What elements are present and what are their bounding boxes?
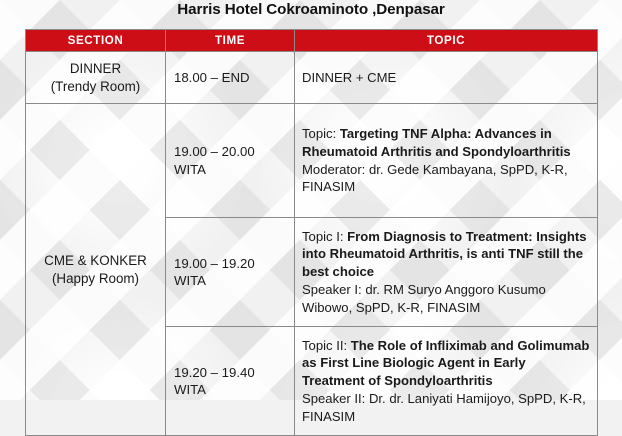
table-header-row: SECTION TIME TOPIC: [26, 30, 598, 52]
cell-time-session-3: 19.20 – 19.40 WITA: [166, 327, 295, 436]
column-header-section: SECTION: [26, 30, 166, 52]
topic-label: Topic:: [302, 126, 340, 141]
cell-topic-session-1: Topic: Targeting TNF Alpha: Advances in …: [295, 104, 598, 218]
time-range: 19.00 – 20.00: [174, 143, 294, 160]
schedule-table: SECTION TIME TOPIC DINNER (Trendy Room) …: [25, 29, 598, 436]
cell-section-cme-konker: CME & KONKER (Happy Room): [26, 104, 166, 436]
cell-topic-dinner: DINNER + CME: [295, 52, 598, 104]
table-row: DINNER (Trendy Room) 18.00 – END DINNER …: [26, 52, 598, 104]
cell-time-session-2: 19.00 – 19.20 WITA: [166, 218, 295, 327]
section-room: (Trendy Room): [30, 78, 161, 96]
time-zone: WITA: [174, 272, 294, 289]
cell-topic-session-2: Topic I: From Diagnosis to Treatment: In…: [295, 218, 598, 327]
cell-time-session-1: 19.00 – 20.00 WITA: [166, 104, 295, 218]
topic-title: Targeting TNF Alpha: Advances in Rheumat…: [302, 126, 571, 159]
section-room: (Happy Room): [30, 270, 161, 288]
column-header-time: TIME: [166, 30, 295, 52]
time-range: 19.20 – 19.40: [174, 364, 294, 381]
topic-speaker: Speaker I: dr. RM Suryo Anggoro Kusumo W…: [302, 281, 591, 317]
page-title: Harris Hotel Cokroaminoto ,Denpasar: [0, 1, 622, 18]
topic-plain-text: DINNER + CME: [302, 70, 396, 85]
table-body: DINNER (Trendy Room) 18.00 – END DINNER …: [26, 52, 598, 436]
time-range: 18.00 – END: [174, 69, 294, 86]
cell-time-dinner: 18.00 – END: [166, 52, 295, 104]
time-range: 19.00 – 19.20: [174, 255, 294, 272]
topic-label: Topic I:: [302, 229, 347, 244]
cell-section-dinner: DINNER (Trendy Room): [26, 52, 166, 104]
time-zone: WITA: [174, 381, 294, 398]
topic-speaker: Speaker II: Dr. dr. Laniyati Hamijoyo, S…: [302, 390, 591, 426]
topic-speaker: Moderator: dr. Gede Kambayana, SpPD, K-R…: [302, 161, 591, 197]
cell-topic-session-3: Topic II: The Role of Infliximab and Gol…: [295, 327, 598, 436]
schedule-slide: Harris Hotel Cokroaminoto ,Denpasar SECT…: [0, 0, 622, 400]
section-name: DINNER: [30, 60, 161, 78]
time-zone: WITA: [174, 161, 294, 178]
table-header: SECTION TIME TOPIC: [26, 30, 598, 52]
topic-label: Topic II:: [302, 338, 351, 353]
column-header-topic: TOPIC: [295, 30, 598, 52]
table-row: CME & KONKER (Happy Room) 19.00 – 20.00 …: [26, 104, 598, 218]
section-name: CME & KONKER: [30, 252, 161, 270]
